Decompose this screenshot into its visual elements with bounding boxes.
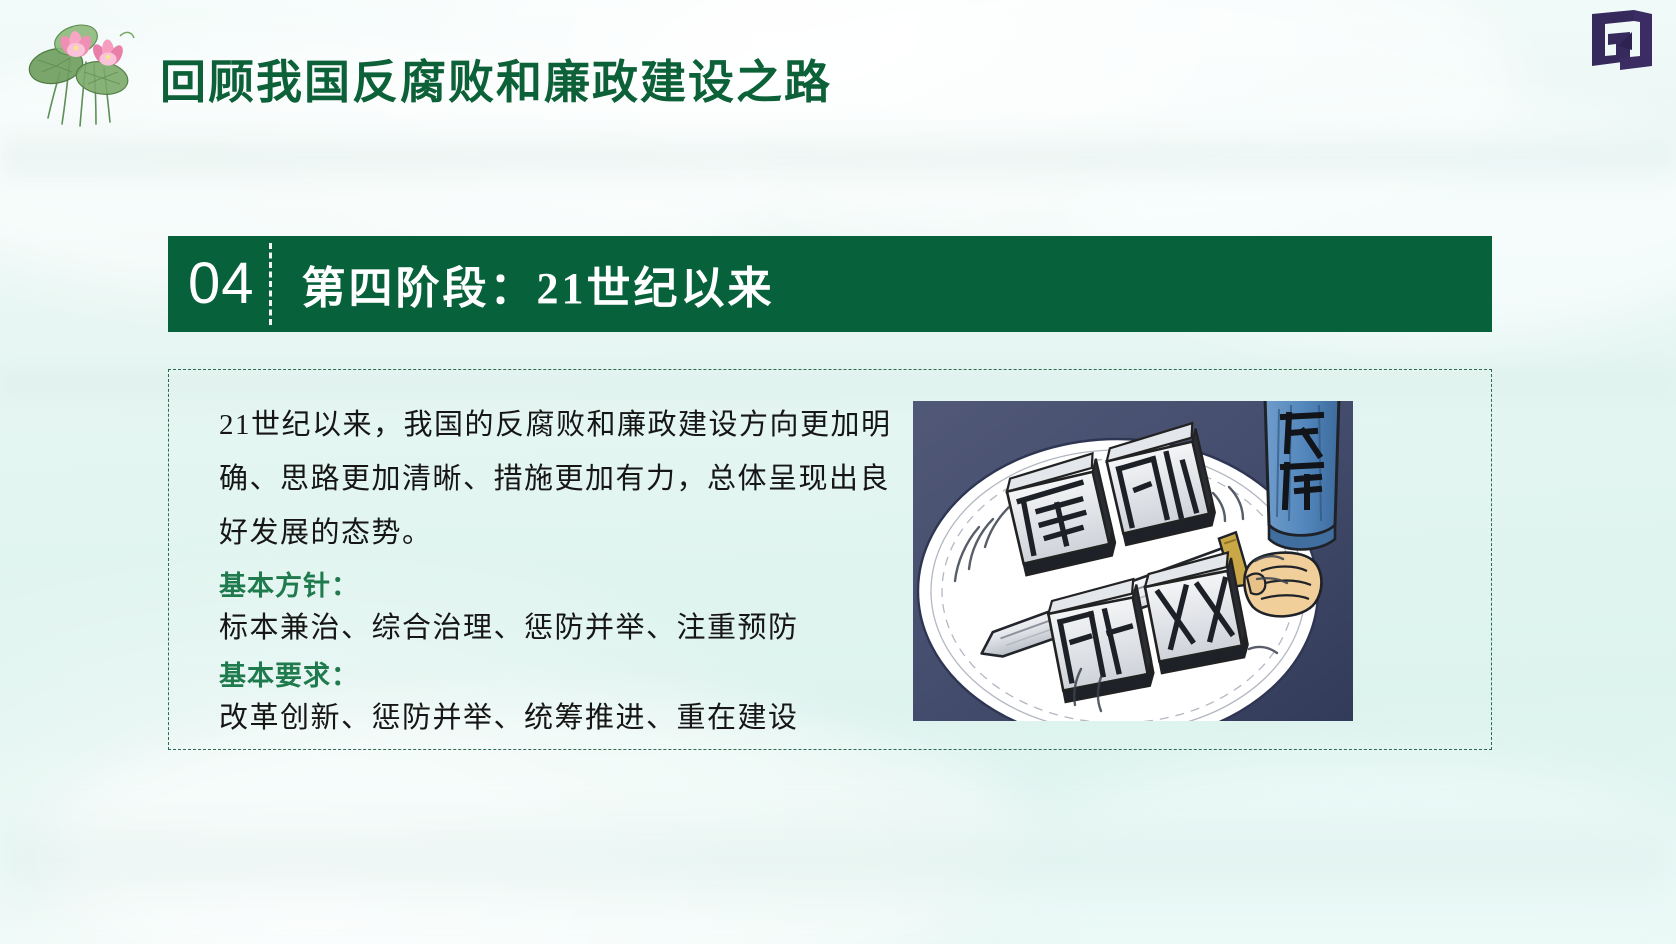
background-wash-top-right — [620, 0, 1520, 240]
body-text-column: 21世纪以来，我国的反腐败和廉政建设方向更加明确、思路更加清晰、措施更加有力，总… — [219, 398, 919, 740]
background-wash-bottom-right — [980, 760, 1676, 944]
basic-requirement-label: 基本要求： — [219, 656, 919, 696]
basic-policy-label: 基本方针： — [219, 566, 919, 606]
lotus-icon — [22, 6, 152, 131]
g-monogram-logo-icon — [1590, 8, 1654, 72]
slide-root: 回顾我国反腐败和廉政建设之路 04 第四阶段：21世纪以来 21世纪以来，我国的… — [0, 0, 1676, 944]
basic-requirement-value: 改革创新、惩防并举、统筹推进、重在建设 — [219, 696, 919, 740]
section-title: 第四阶段：21世纪以来 — [302, 252, 775, 316]
section-header-bar: 04 第四阶段：21世纪以来 — [168, 236, 1492, 332]
section-number: 04 — [168, 255, 269, 313]
background-ink-band-lower — [0, 800, 1676, 920]
background-ink-band-upper — [0, 120, 1676, 190]
section-divider — [269, 243, 272, 325]
page-title: 回顾我国反腐败和廉政建设之路 — [160, 46, 832, 112]
intro-paragraph: 21世纪以来，我国的反腐败和廉政建设方向更加明确、思路更加清晰、措施更加有力，总… — [219, 398, 919, 560]
anti-corruption-sword-cartoon-image — [913, 401, 1353, 721]
basic-policy-value: 标本兼治、综合治理、惩防并举、注重预防 — [219, 606, 919, 650]
content-box: 21世纪以来，我国的反腐败和廉政建设方向更加明确、思路更加清晰、措施更加有力，总… — [168, 369, 1492, 750]
